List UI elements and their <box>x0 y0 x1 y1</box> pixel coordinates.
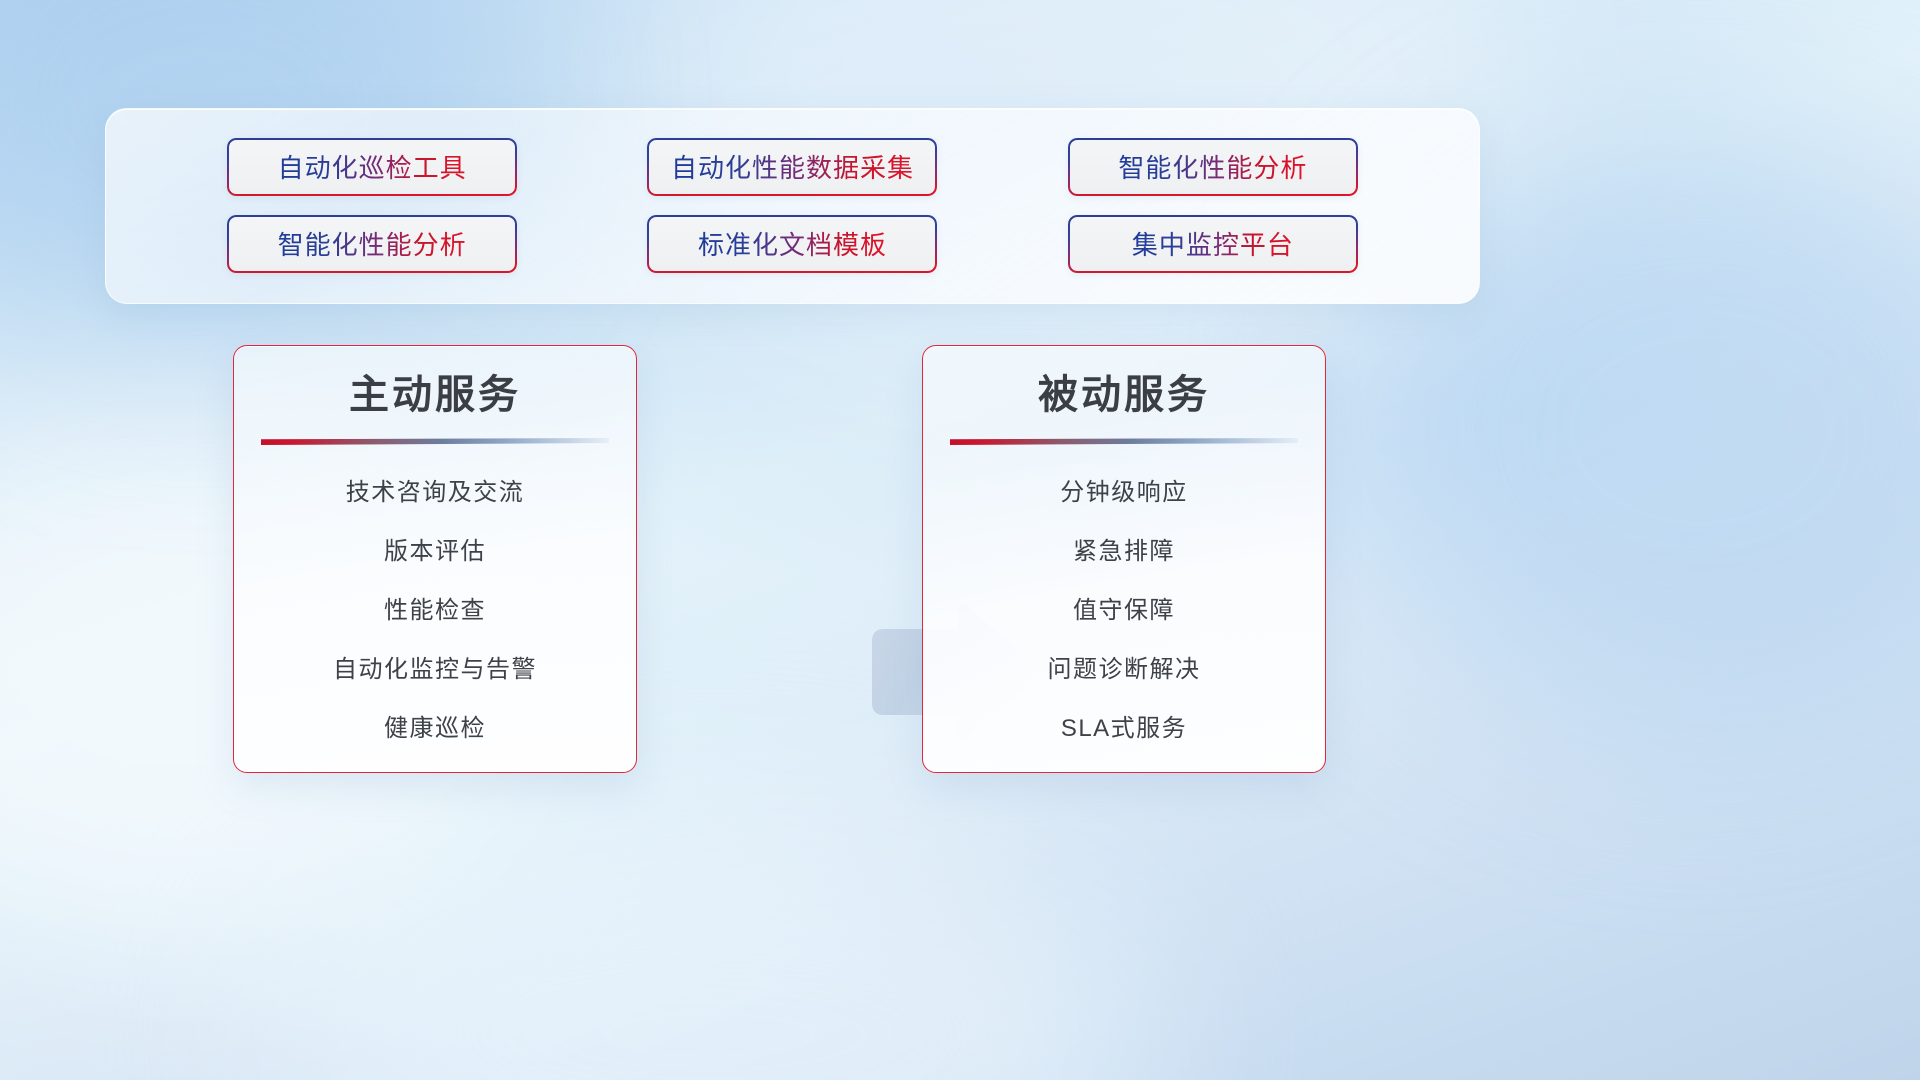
capability-panel: 自动化巡检工具 自动化性能数据采集 智能化性能分析 智能化性能分析 标准化文档模… <box>105 108 1480 304</box>
capability-pill-5[interactable]: 标准化文档模板 <box>647 215 937 273</box>
active-service-title: 主动服务 <box>234 372 636 418</box>
capability-pill-label: 自动化巡检工具 <box>278 148 467 185</box>
list-item: 值守保障 <box>923 599 1325 623</box>
list-item: 性能检查 <box>234 599 636 623</box>
capability-pill-6[interactable]: 集中监控平台 <box>1068 215 1358 273</box>
capability-pill-4[interactable]: 智能化性能分析 <box>227 215 517 273</box>
background-glow-4 <box>260 820 1160 1080</box>
passive-service-list: 分钟级响应 紧急排障 值守保障 问题诊断解决 SLA式服务 <box>923 481 1325 741</box>
capability-pill-1[interactable]: 自动化巡检工具 <box>227 138 517 196</box>
capability-pill-2[interactable]: 自动化性能数据采集 <box>647 138 937 196</box>
active-service-divider <box>261 438 609 445</box>
list-item: SLA式服务 <box>923 717 1325 741</box>
list-item: 紧急排障 <box>923 540 1325 564</box>
capability-pill-label: 标准化文档模板 <box>698 225 887 262</box>
active-service-list: 技术咨询及交流 版本评估 性能检查 自动化监控与告警 健康巡检 <box>234 481 636 741</box>
passive-service-title: 被动服务 <box>923 372 1325 418</box>
list-item: 健康巡检 <box>234 717 636 741</box>
infographic-canvas: 自动化巡检工具 自动化性能数据采集 智能化性能分析 智能化性能分析 标准化文档模… <box>0 0 1920 1080</box>
capability-pill-3[interactable]: 智能化性能分析 <box>1068 138 1358 196</box>
capability-pill-label: 自动化性能数据采集 <box>671 148 914 185</box>
active-service-card: 主动服务 技术咨询及交流 版本评估 性能检查 自动化监控与告警 健康巡检 <box>233 345 637 773</box>
capability-pill-label: 智能化性能分析 <box>1118 148 1307 185</box>
list-item: 技术咨询及交流 <box>234 481 636 505</box>
list-item: 分钟级响应 <box>923 481 1325 505</box>
passive-service-divider <box>950 438 1298 445</box>
passive-service-card: 被动服务 分钟级响应 紧急排障 值守保障 问题诊断解决 SLA式服务 <box>922 345 1326 773</box>
list-item: 自动化监控与告警 <box>234 658 636 682</box>
capability-grid: 自动化巡检工具 自动化性能数据采集 智能化性能分析 智能化性能分析 标准化文档模… <box>106 109 1479 303</box>
list-item: 问题诊断解决 <box>923 658 1325 682</box>
capability-pill-label: 集中监控平台 <box>1132 225 1294 262</box>
divider-bar <box>950 438 1298 445</box>
list-item: 版本评估 <box>234 540 636 564</box>
divider-bar <box>261 438 609 445</box>
capability-pill-label: 智能化性能分析 <box>278 225 467 262</box>
